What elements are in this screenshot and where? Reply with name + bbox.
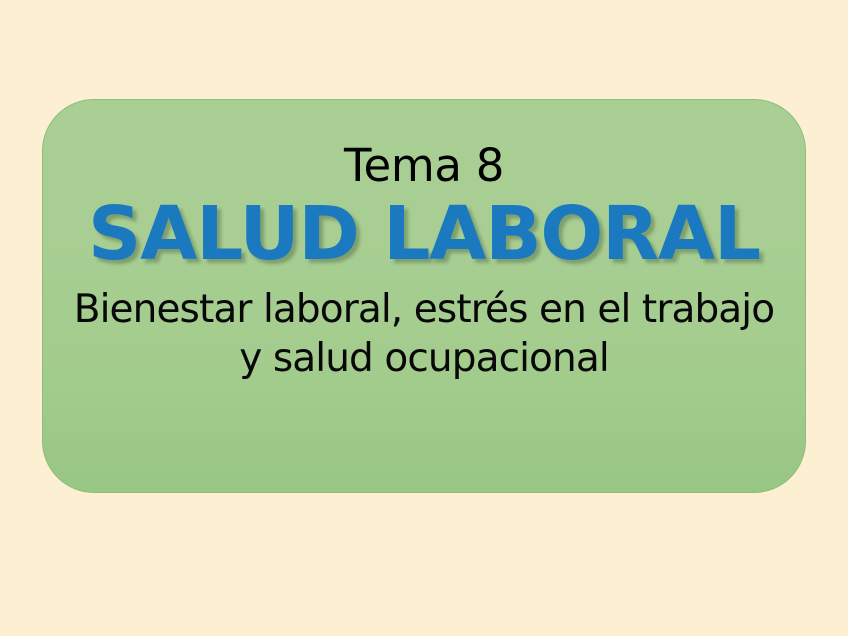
subtitle-block: Bienestar laboral, estrés en el trabajo …	[58, 285, 790, 383]
subtitle-line-1: Bienestar laboral, estrés en el trabajo	[58, 285, 790, 334]
title-card: Tema 8 SALUD LABORAL Bienestar laboral, …	[42, 99, 806, 493]
subtitle-line-2: y salud ocupacional	[58, 334, 790, 383]
topic-label: Tema 8	[344, 142, 504, 189]
page-title: SALUD LABORAL	[88, 195, 760, 275]
presentation-slide: Tema 8 SALUD LABORAL Bienestar laboral, …	[0, 0, 848, 636]
